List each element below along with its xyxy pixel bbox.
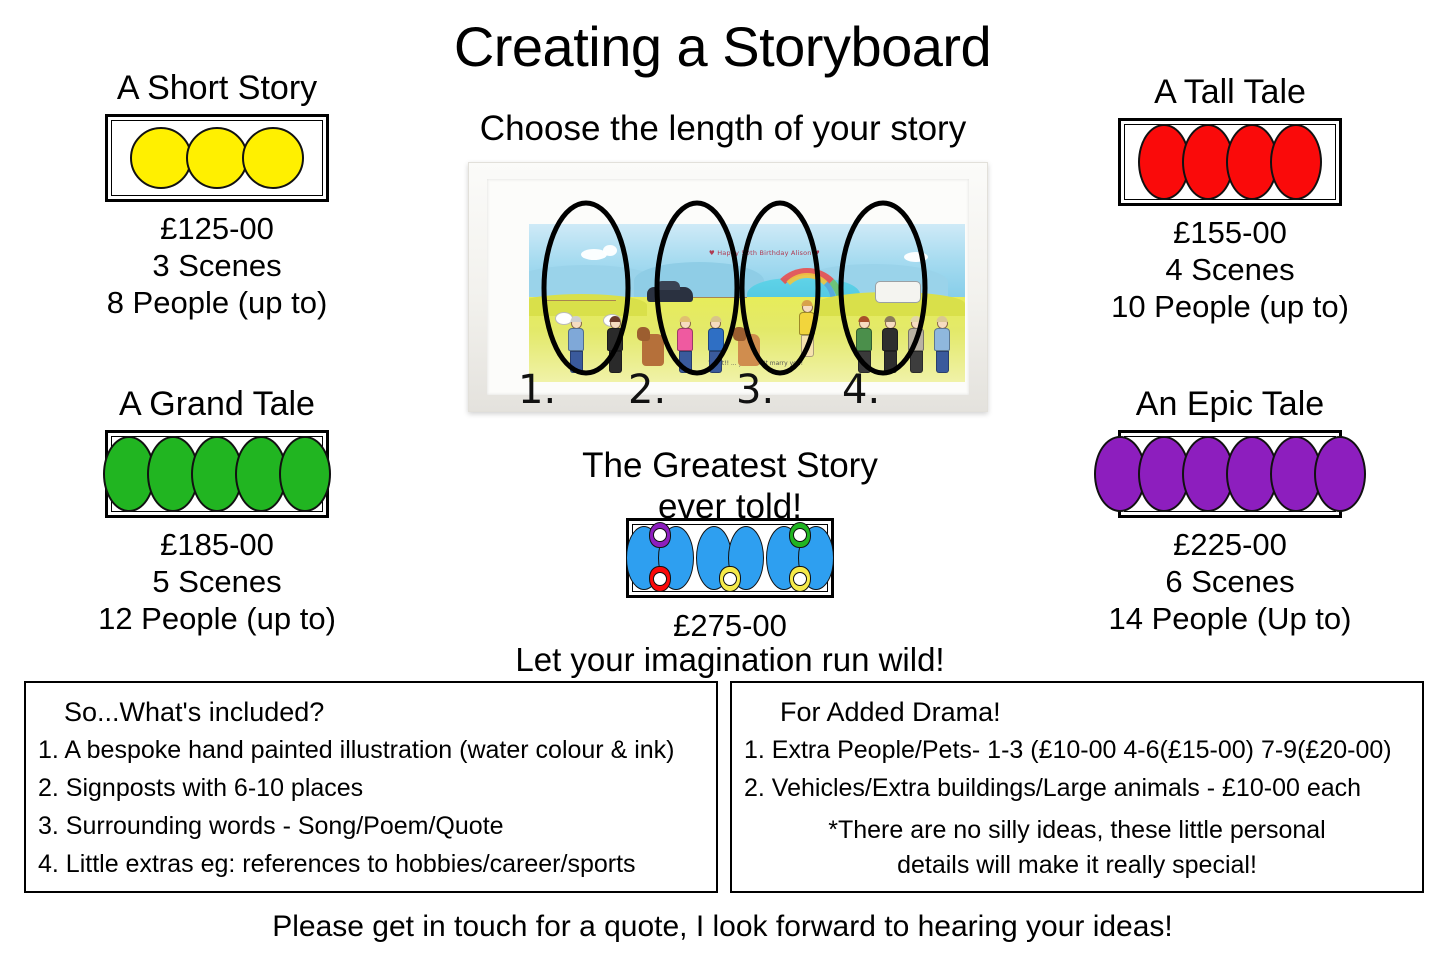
horse (738, 334, 760, 366)
list-item: 4. Little extras eg: references to hobbi… (38, 845, 704, 883)
list-item: 2. Vehicles/Extra buildings/Large animal… (744, 769, 1410, 807)
car (647, 287, 693, 302)
balloon-knot-icon (653, 528, 667, 542)
package-scenes: 5 Scenes (32, 563, 402, 600)
scene-dot (242, 127, 304, 189)
picture-mat: ♥ Happy 50th Birthday Alison ♥ What!! ..… (487, 179, 969, 395)
package-card-grand-tale[interactable]: A Grand Tale £185-00 5 Scenes 12 People … (32, 384, 402, 637)
imagination-tagline: Let your imagination run wild! (430, 640, 1030, 679)
balloon-knot-icon (793, 528, 807, 542)
list-item: 1. Extra People/Pets- 1-3 (£10-00 4-6(£1… (744, 731, 1410, 769)
choose-length-subtitle: Choose the length of your story (413, 108, 1033, 150)
person-figure (908, 318, 924, 373)
swatch-inner (632, 524, 828, 592)
person-figure (708, 318, 724, 373)
scene-pair (628, 526, 692, 590)
package-details: £185-00 5 Scenes 12 People (up to) (32, 526, 402, 637)
scene-dot (130, 127, 192, 189)
person-figure (934, 318, 950, 373)
swatch-box-grand-tale (105, 430, 329, 518)
package-card-epic-tale[interactable]: An Epic Tale £225-00 6 Scenes 14 People … (1045, 384, 1415, 637)
swatch-inner (111, 120, 323, 196)
balloon-knot-icon (723, 572, 737, 586)
swatch-inner (1124, 124, 1336, 200)
balloon-knot-icon (653, 572, 667, 586)
package-scenes: 6 Scenes (1045, 563, 1415, 600)
list-item: 1. A bespoke hand painted illustration (… (38, 731, 704, 769)
horse (642, 334, 664, 366)
swatch-box-greatest-story (626, 518, 834, 598)
greatest-story-heading: The Greatest Story ever told! (530, 445, 930, 527)
scene-number-row: 1. 2. 3. 4. (468, 370, 988, 430)
person-figure (856, 318, 872, 373)
scene-dot (279, 436, 331, 512)
drama-list: 1. Extra People/Pets- 1-3 (£10-00 4-6(£1… (744, 731, 1410, 807)
drama-note-line1: *There are no silly ideas, these little … (744, 813, 1410, 848)
poster-canvas: Creating a Storyboard A Short Story £125… (0, 0, 1445, 963)
artwork-greeting: ♥ Happy 50th Birthday Alison ♥ (673, 249, 856, 257)
balloon-knot-icon (793, 572, 807, 586)
person-figure (568, 318, 584, 373)
fence (546, 300, 616, 301)
package-price: £155-00 (1045, 214, 1415, 251)
scene-dot (1270, 124, 1322, 200)
package-title: A Short Story (32, 68, 402, 108)
cloud-icon (603, 245, 617, 256)
scene-number-2: 2. (628, 370, 666, 410)
swatch-box-tall-tale (1118, 118, 1342, 206)
person-figure (607, 318, 623, 373)
swatch-inner (1124, 436, 1336, 512)
caravan (875, 281, 921, 303)
package-card-tall-tale[interactable]: A Tall Tale £155-00 4 Scenes 10 People (… (1045, 72, 1415, 325)
greatest-story-swatch-wrap[interactable] (530, 518, 930, 598)
package-people: 8 People (up to) (32, 284, 402, 321)
drama-note-line2: details will make it really special! (744, 848, 1410, 883)
included-box-heading: So...What's included? (38, 693, 704, 731)
package-price: £225-00 (1045, 526, 1415, 563)
package-details: £125-00 3 Scenes 8 People (up to) (32, 210, 402, 321)
package-price: £185-00 (32, 526, 402, 563)
swatch-box-short-story (105, 114, 329, 202)
package-details: £225-00 6 Scenes 14 People (Up to) (1045, 526, 1415, 637)
included-box: So...What's included? 1. A bespoke hand … (24, 681, 718, 893)
scene-dot (186, 127, 248, 189)
scene-number-4: 4. (842, 370, 880, 410)
package-scenes: 3 Scenes (32, 247, 402, 284)
package-people: 10 People (up to) (1045, 288, 1415, 325)
person-figure (882, 318, 898, 373)
scene-number-1: 1. (518, 370, 556, 410)
package-price: £125-00 (32, 210, 402, 247)
package-title: A Grand Tale (32, 384, 402, 424)
package-title: An Epic Tale (1045, 384, 1415, 424)
drama-box-heading: For Added Drama! (744, 693, 1410, 731)
list-item: 3. Surrounding words - Song/Poem/Quote (38, 807, 704, 845)
drama-box: For Added Drama! 1. Extra People/Pets- 1… (730, 681, 1424, 893)
scene-number-3: 3. (736, 370, 774, 410)
list-item: 2. Signposts with 6-10 places (38, 769, 704, 807)
package-details: £155-00 4 Scenes 10 People (up to) (1045, 214, 1415, 325)
package-people: 14 People (Up to) (1045, 600, 1415, 637)
included-list: 1. A bespoke hand painted illustration (… (38, 731, 704, 883)
package-people: 12 People (up to) (32, 600, 402, 637)
greatest-story-line1: The Greatest Story (530, 445, 930, 486)
scene-dot (1314, 436, 1366, 512)
package-title: A Tall Tale (1045, 72, 1415, 112)
footer-contact-text: Please get in touch for a quote, I look … (0, 908, 1445, 946)
person-figure (677, 318, 693, 373)
package-card-short-story[interactable]: A Short Story £125-00 3 Scenes 8 People … (32, 68, 402, 321)
scene-pair (698, 526, 762, 590)
swatch-box-epic-tale (1118, 430, 1342, 518)
watercolour-illustration: ♥ Happy 50th Birthday Alison ♥ What!! ..… (529, 224, 965, 382)
swatch-inner (111, 436, 323, 512)
scene-pair (768, 526, 832, 590)
greatest-story-price: £275-00 (530, 608, 930, 644)
person-figure (799, 302, 815, 357)
ground-hill (529, 294, 647, 316)
package-scenes: 4 Scenes (1045, 251, 1415, 288)
